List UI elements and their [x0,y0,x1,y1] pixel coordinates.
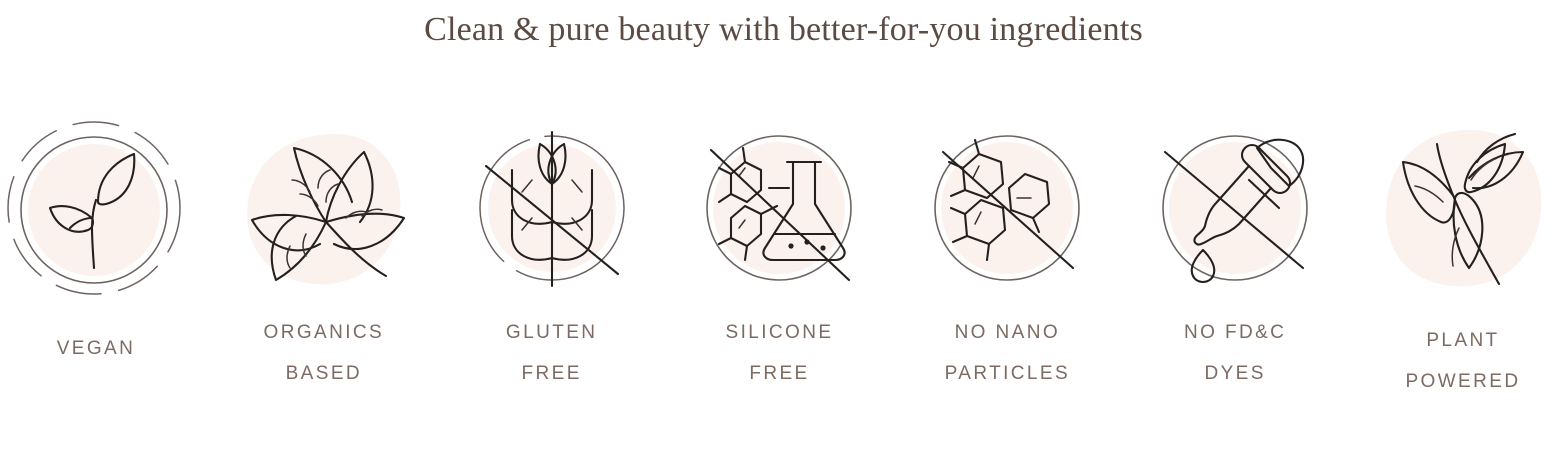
wheat-stalk-icon [462,118,642,298]
benefits-badge-strip: Clean & pure beauty with better-for-you … [0,0,1567,456]
hexagon-molecule-icon [917,118,1097,298]
badge-label: NO FD&C DYES [1184,312,1286,394]
eyedropper-icon [1145,118,1325,298]
badge-label: GLUTEN FREE [506,312,597,394]
badge-label: ORGANICS BASED [264,312,385,394]
badge-label: NO NANO PARTICLES [945,312,1070,394]
section-headline: Clean & pure beauty with better-for-you … [0,0,1567,60]
sprout-icon [6,118,186,298]
badge-gluten-free[interactable]: GLUTEN FREE [440,118,664,394]
leaf-cluster-icon [234,118,414,298]
badge-label: SILICONE FREE [726,312,834,394]
badge-label: VEGAN [57,328,136,369]
badge-no-fdc-dyes[interactable]: NO FD&C DYES [1123,118,1347,394]
badge-row: VEGAN [0,118,1567,448]
badge-plant-powered[interactable]: PLANT POWERED [1351,118,1567,402]
badge-organics-based[interactable]: ORGANICS BASED [212,118,436,394]
badge-vegan[interactable]: VEGAN [0,118,208,369]
flask-molecule-icon [689,118,869,298]
leafy-branch-icon [1373,118,1553,298]
badge-label: PLANT POWERED [1405,320,1520,402]
badge-silicone-free[interactable]: SILICONE FREE [667,118,891,394]
badge-no-nano-particles[interactable]: NO NANO PARTICLES [895,118,1119,394]
